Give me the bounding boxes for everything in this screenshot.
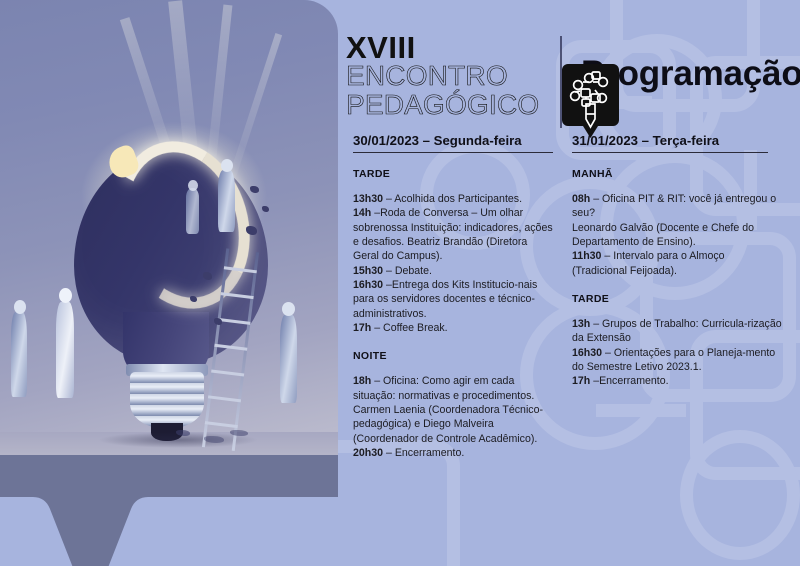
entry-text: – Oficina: Como agir em cada situação: n… bbox=[353, 375, 543, 444]
entry-text: –Roda de Conversa – Um olhar sobrenossa … bbox=[353, 207, 553, 262]
day1-entries-1: 13h30 – Acolhida dos Participantes. 14h … bbox=[353, 192, 553, 335]
day2-period-label-2: TARDE bbox=[572, 293, 782, 305]
figure-standing bbox=[280, 315, 297, 403]
debris-shard bbox=[176, 430, 190, 436]
ladder-rung bbox=[214, 344, 247, 351]
poster-footer: Realização: Departamento de Ensino Coord… bbox=[0, 476, 800, 566]
figure-inside-bulb bbox=[186, 188, 199, 234]
entry-time: 08h bbox=[572, 193, 590, 205]
ladder-rung bbox=[224, 266, 257, 273]
schedule-entry: 16h30 – Orientações para o Planeja-mento… bbox=[572, 346, 782, 375]
day2-entries-1: 08h – Oficina PIT & RIT: você já entrego… bbox=[572, 192, 782, 278]
schedule-column-day2: 31/01/2023 – Terça-feira MANHÃ 08h – Ofi… bbox=[572, 133, 782, 389]
day1-period-label-1: TARDE bbox=[353, 168, 553, 180]
schedule-entry: 15h30 – Debate. bbox=[353, 264, 553, 278]
figure-head bbox=[221, 159, 233, 172]
ladder-rung bbox=[211, 370, 244, 377]
day1-title: 30/01/2023 – Segunda-feira bbox=[353, 133, 553, 153]
entry-text: – Debate. bbox=[383, 265, 432, 277]
ladder-rung bbox=[205, 421, 238, 428]
figure-head bbox=[282, 302, 295, 316]
schedule-entry: 14h –Roda de Conversa – Um olhar sobreno… bbox=[353, 206, 553, 263]
schedule-entry: 11h30 – Intervalo para o Almoço (Tradici… bbox=[572, 249, 782, 278]
figure-on-ladder bbox=[218, 170, 235, 232]
entry-time: 11h30 bbox=[572, 250, 601, 262]
entry-time: 17h bbox=[353, 322, 371, 334]
entry-time: 14h bbox=[353, 207, 371, 219]
entry-text: – Coffee Break. bbox=[371, 322, 447, 334]
figure-head bbox=[188, 180, 198, 191]
entry-text: –Encerramento. bbox=[590, 375, 668, 387]
debris-shard bbox=[250, 186, 259, 193]
entry-text: – Acolhida dos Participantes. bbox=[383, 193, 522, 205]
figure-standing bbox=[56, 302, 74, 398]
entry-time: 13h30 bbox=[353, 193, 383, 205]
entry-time: 20h30 bbox=[353, 447, 383, 459]
bulb-screw-base bbox=[130, 372, 204, 428]
event-edition: XVIII bbox=[346, 33, 606, 62]
entry-time: 16h30 bbox=[353, 279, 383, 291]
schedule-entry: Leonardo Galvão (Docente e Chefe do Depa… bbox=[572, 221, 782, 250]
day1-entries-2: 18h – Oficina: Como agir em cada situaçã… bbox=[353, 374, 553, 460]
figure-head bbox=[14, 300, 26, 314]
ladder-rung bbox=[217, 318, 250, 325]
debris-shard bbox=[230, 430, 248, 436]
entry-time: 18h bbox=[353, 375, 371, 387]
schedule-entry: 13h – Grupos de Trabalho: Curricula-riza… bbox=[572, 317, 782, 346]
day1-period-label-2: NOITE bbox=[353, 350, 553, 362]
schedule-entry: 17h – Coffee Break. bbox=[353, 321, 553, 335]
light-ray bbox=[224, 33, 282, 193]
entry-text: Leonardo Galvão (Docente e Chefe do Depa… bbox=[572, 222, 754, 248]
brain-pencil-pin-icon bbox=[562, 64, 619, 138]
schedule-entry: 08h – Oficina PIT & RIT: você já entrego… bbox=[572, 192, 782, 221]
day2-entries-2: 13h – Grupos de Trabalho: Curricula-riza… bbox=[572, 317, 782, 389]
debris-shard bbox=[246, 226, 257, 235]
entry-text: – Orientações para o Planeja-mento do Se… bbox=[572, 347, 775, 373]
entry-time: 17h bbox=[572, 375, 590, 387]
schedule-column-day1: 30/01/2023 – Segunda-feira TARDE 13h30 –… bbox=[353, 133, 553, 461]
schedule-entry: 13h30 – Acolhida dos Participantes. bbox=[353, 192, 553, 206]
debris-shard bbox=[203, 272, 212, 280]
figure-head bbox=[59, 288, 72, 303]
debris-shard bbox=[262, 206, 269, 212]
entry-time: 16h30 bbox=[572, 347, 602, 359]
schedule-entry: 16h30 –Entrega dos Kits Institucio-nais … bbox=[353, 278, 553, 321]
day2-period-label-1: MANHÃ bbox=[572, 168, 782, 180]
lightbulb-illustration bbox=[0, 0, 338, 497]
ladder-rung bbox=[221, 292, 254, 299]
figure-standing bbox=[11, 312, 27, 397]
debris-shard bbox=[214, 318, 222, 325]
debris-shard bbox=[190, 296, 197, 302]
entry-time: 15h30 bbox=[353, 265, 383, 277]
ladder-rail bbox=[232, 252, 259, 451]
schedule-entry: 18h – Oficina: Como agir em cada situaçã… bbox=[353, 374, 553, 446]
schedule-entry: 20h30 – Encerramento. bbox=[353, 446, 553, 460]
entry-text: – Oficina PIT & RIT: você já entregou o … bbox=[572, 193, 776, 219]
schedule-entry: 17h –Encerramento. bbox=[572, 374, 782, 388]
entry-text: – Encerramento. bbox=[383, 447, 464, 459]
entry-text: – Grupos de Trabalho: Curricula-rização … bbox=[572, 318, 782, 344]
ladder-rung bbox=[208, 395, 241, 402]
watermark-connector bbox=[596, 404, 686, 417]
entry-time: 13h bbox=[572, 318, 590, 330]
